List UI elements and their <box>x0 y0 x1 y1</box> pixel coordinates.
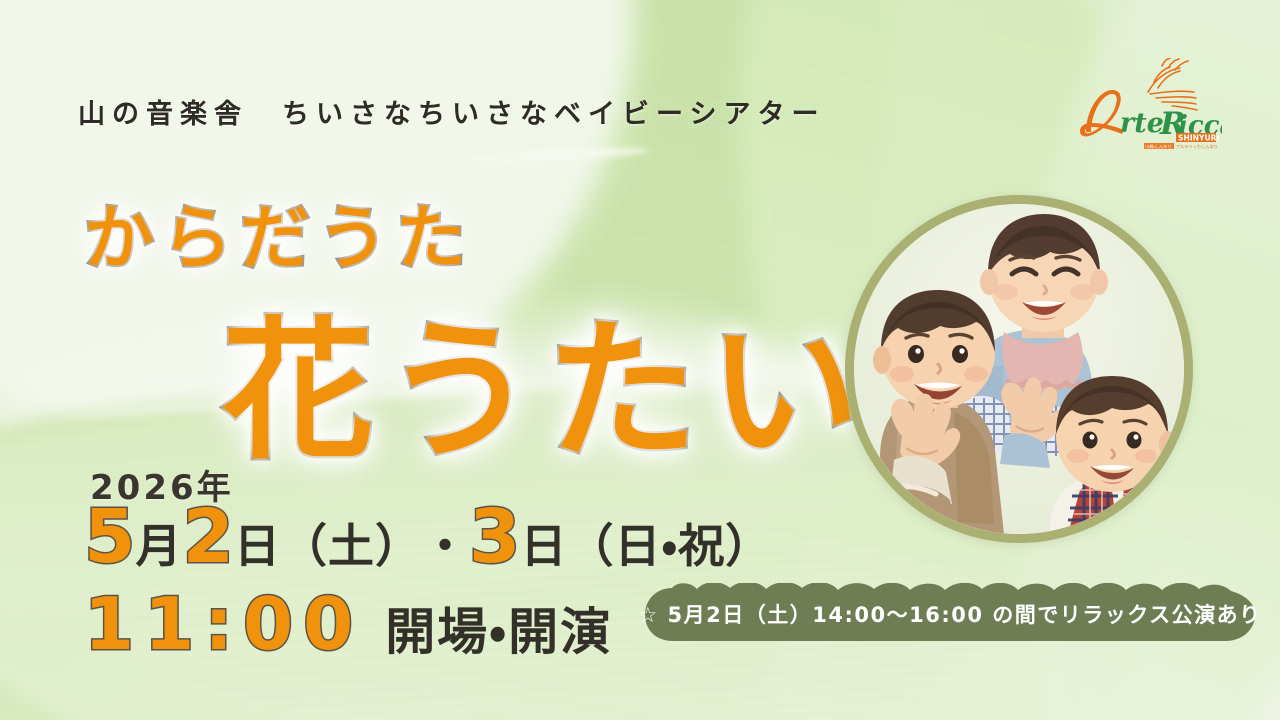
event-month-label: 月 <box>136 523 183 569</box>
baby-photo-circle <box>845 195 1193 543</box>
event-day2-label: 日（日・祝） <box>521 523 773 569</box>
baby-photo-image <box>854 204 1184 534</box>
event-day1-number: 2 <box>183 500 235 574</box>
event-date-line: 5 月 2 日（土） ・ 3 日（日・祝） <box>84 500 772 574</box>
event-month-number: 5 <box>84 500 136 574</box>
relax-performance-banner: ☆ 5月2日（土）14:00〜16:00 の間でリラックス公演あり <box>645 583 1255 641</box>
svg-text:SHINYURI: SHINYURI <box>1178 134 1220 143</box>
event-time: 11:00 <box>84 588 363 660</box>
event-date-separator: ・ <box>422 523 469 569</box>
event-time-label: 開場・開演 <box>385 607 612 657</box>
poster-canvas: 山の音楽舎 ちいさなちいさなベイビーシアター rt <box>0 0 1280 720</box>
main-title-hanautai: 花うたい <box>222 268 870 488</box>
event-day1-label: 日（土） <box>234 523 422 569</box>
svg-text:川崎・しんゆり: 川崎・しんゆり <box>1145 143 1172 150</box>
arte-ricca-logo: rte R icca SHINYURI 川崎・しんゆり アルテリッカしんゆり <box>1072 58 1222 150</box>
event-time-line: 11:00 開場・開演 <box>84 588 612 660</box>
svg-text:rte: rte <box>1120 108 1164 139</box>
tagline: 山の音楽舎 ちいさなちいさなベイビーシアター <box>78 92 825 131</box>
svg-text:アルテリッカしんゆり: アルテリッカしんゆり <box>1176 144 1218 150</box>
relax-performance-text: ☆ 5月2日（土）14:00〜16:00 の間でリラックス公演あり <box>645 583 1255 641</box>
event-day2-number: 3 <box>469 500 521 574</box>
